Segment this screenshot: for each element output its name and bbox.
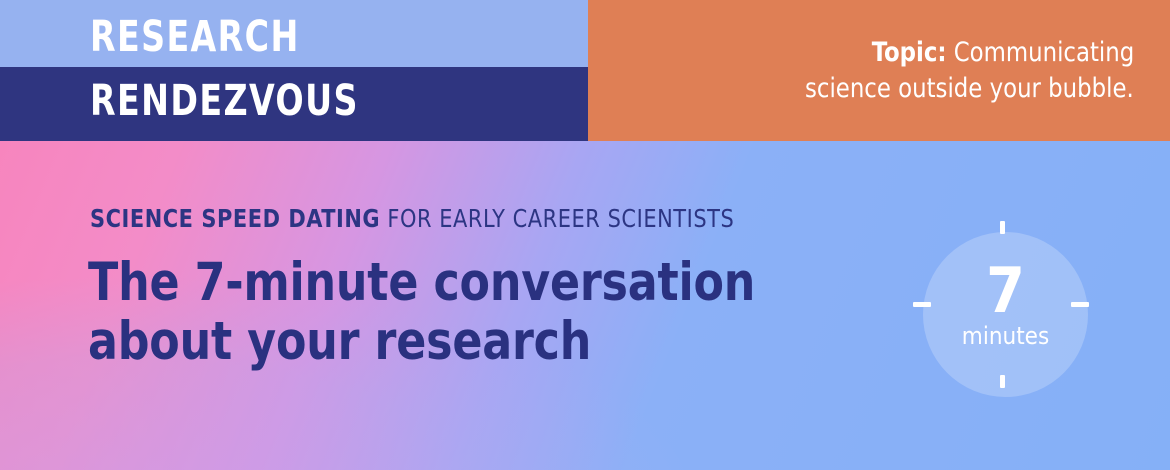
topic-line-1: Topic: Communicating xyxy=(872,35,1134,71)
brand-title-line-1: RESEARCH xyxy=(90,16,300,59)
headline-line-1: The 7-minute conversation xyxy=(88,253,869,312)
topic-label: Topic: xyxy=(872,37,947,68)
kicker-line: SCIENCE SPEED DATING FOR EARLY CAREER SC… xyxy=(90,206,734,231)
topic-panel: Topic: Communicating science outside you… xyxy=(588,0,1170,141)
topic-line-2: science outside your bubble. xyxy=(805,71,1134,107)
topic-value-part-1: Communicating xyxy=(946,37,1134,68)
headline: The 7-minute conversation about your res… xyxy=(88,253,869,372)
research-rendezvous-banner: RESEARCH RENDEZVOUS Topic: Communicating… xyxy=(0,0,1170,470)
clock-duration-number: 7 xyxy=(923,260,1088,322)
clock-duration-unit: minutes xyxy=(923,324,1088,348)
banner-top-zone: RESEARCH RENDEZVOUS Topic: Communicating… xyxy=(0,0,1170,141)
headline-line-2: about your research xyxy=(88,312,869,371)
kicker-strong-text: SCIENCE SPEED DATING xyxy=(90,204,380,233)
kicker-rest-text: FOR EARLY CAREER SCIENTISTS xyxy=(380,204,734,233)
brand-title-line-2: RENDEZVOUS xyxy=(90,80,359,123)
